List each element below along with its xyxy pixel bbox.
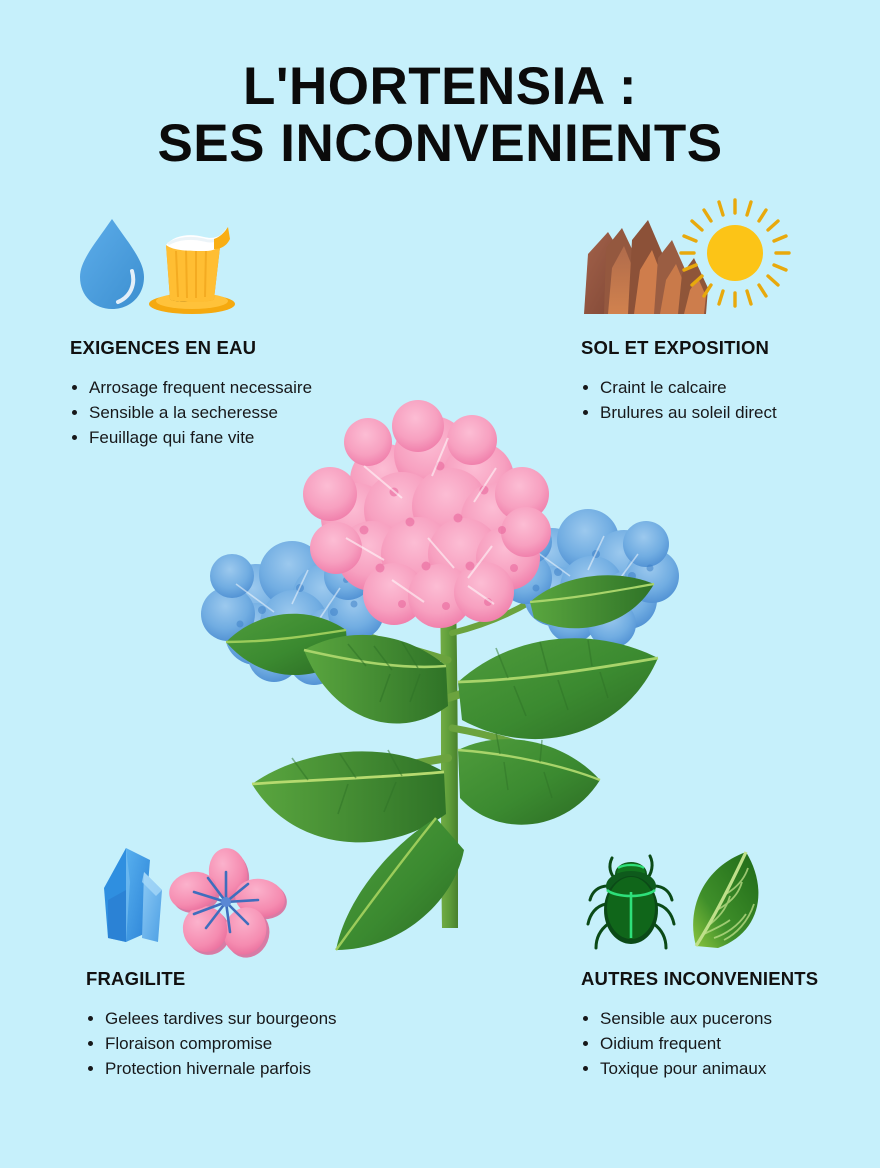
- bullet-text: Craint le calcaire: [600, 378, 727, 397]
- bullet-item: Craint le calcaire: [581, 375, 777, 400]
- beetle-icon: [588, 856, 674, 948]
- bullet-text: Sensible a la secheresse: [89, 403, 278, 422]
- leaf-icon: [693, 852, 758, 948]
- bullet-text: Oidium frequent: [600, 1034, 721, 1053]
- bullet-text: Feuillage qui fane vite: [89, 428, 254, 447]
- bullet-dot-icon: [583, 1066, 588, 1071]
- bullet-dot-icon: [583, 385, 588, 390]
- poster-title: L'HORTENSIA : SES INCONVENIENTS: [0, 58, 880, 172]
- bullet-text: Protection hivernale parfois: [105, 1059, 311, 1078]
- bullet-text: Sensible aux pucerons: [600, 1009, 772, 1028]
- bullet-dot-icon: [583, 410, 588, 415]
- section-heading-fragility: FRAGILITE: [86, 968, 337, 990]
- bullet-dot-icon: [583, 1041, 588, 1046]
- section-sol-et-exposition: SOL ET EXPOSITION Craint le calcaire Bru…: [581, 337, 777, 425]
- bullet-text: Toxique pour animaux: [600, 1059, 766, 1078]
- section-autres-inconvenients: AUTRES INCONVENIENTS Sensible aux pucero…: [581, 968, 818, 1081]
- bullet-dot-icon: [72, 385, 77, 390]
- icon-group-fragility: [82, 838, 282, 958]
- infographic-poster: L'HORTENSIA : SES INCONVENIENTS: [0, 0, 880, 1168]
- bullet-item: Floraison compromise: [86, 1031, 337, 1056]
- bullet-item: Brulures au soleil direct: [581, 400, 777, 425]
- bullet-list-other: Sensible aux pucerons Oidium frequent To…: [581, 1006, 818, 1081]
- bullet-text: Arrosage frequent necessaire: [89, 378, 312, 397]
- bullet-list-water: Arrosage frequent necessaire Sensible a …: [70, 375, 312, 450]
- ice-crystal-icon: [104, 848, 162, 942]
- section-heading-soil: SOL ET EXPOSITION: [581, 337, 777, 359]
- title-line-2: SES INCONVENIENTS: [0, 115, 880, 172]
- icon-group-water: [70, 207, 260, 322]
- bullet-item: Feuillage qui fane vite: [70, 425, 312, 450]
- bullet-dot-icon: [72, 410, 77, 415]
- bullet-item: Sensible aux pucerons: [581, 1006, 818, 1031]
- bullet-dot-icon: [88, 1016, 93, 1021]
- icon-group-other: [578, 838, 778, 958]
- bullet-dot-icon: [88, 1066, 93, 1071]
- title-line-1: L'HORTENSIA :: [0, 58, 880, 115]
- bullet-item: Arrosage frequent necessaire: [70, 375, 312, 400]
- water-drop-icon: [80, 219, 144, 309]
- bullet-item: Gelees tardives sur bourgeons: [86, 1006, 337, 1031]
- icon-group-soil: [578, 196, 793, 321]
- bullet-item: Oidium frequent: [581, 1031, 818, 1056]
- section-heading-other: AUTRES INCONVENIENTS: [581, 968, 818, 990]
- section-exigences-en-eau: EXIGENCES EN EAU Arrosage frequent neces…: [70, 337, 312, 450]
- bullet-text: Floraison compromise: [105, 1034, 272, 1053]
- watering-cup-icon: [149, 227, 235, 314]
- section-fragilite: FRAGILITE Gelees tardives sur bourgeons …: [86, 968, 337, 1081]
- bullet-dot-icon: [583, 1016, 588, 1021]
- bullet-list-soil: Craint le calcaire Brulures au soleil di…: [581, 375, 777, 425]
- bullet-text: Brulures au soleil direct: [600, 403, 777, 422]
- bullet-item: Sensible a la secheresse: [70, 400, 312, 425]
- bullet-list-fragility: Gelees tardives sur bourgeons Floraison …: [86, 1006, 337, 1081]
- section-heading-water: EXIGENCES EN EAU: [70, 337, 312, 359]
- bullet-dot-icon: [88, 1041, 93, 1046]
- bullet-text: Gelees tardives sur bourgeons: [105, 1009, 337, 1028]
- bullet-item: Protection hivernale parfois: [86, 1056, 337, 1081]
- bullet-item: Toxique pour animaux: [581, 1056, 818, 1081]
- bullet-dot-icon: [72, 435, 77, 440]
- blossom-flower-icon: [166, 846, 290, 965]
